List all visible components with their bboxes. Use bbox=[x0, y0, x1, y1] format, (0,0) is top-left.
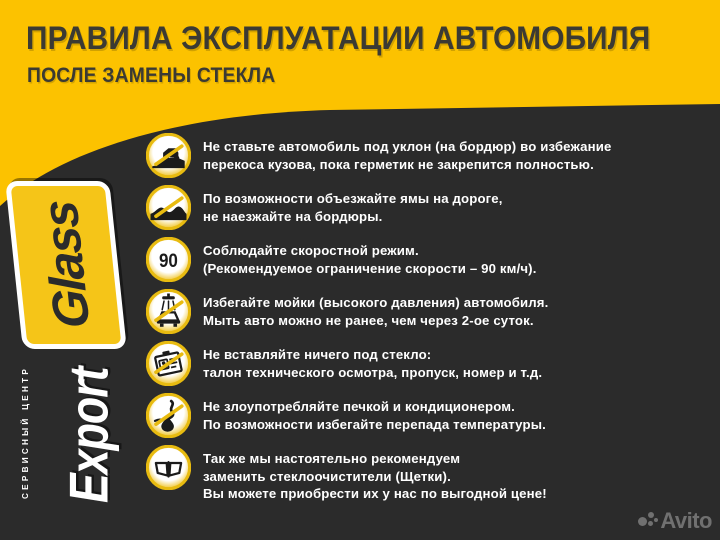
rule-text-line: Не вставляйте ничего под стекло: bbox=[203, 346, 542, 364]
no-parking-on-slope-icon bbox=[146, 133, 191, 178]
poster-canvas: ПРАВИЛА ЭКСПЛУАТАЦИИ АВТОМОБИЛЯ ПОСЛЕ ЗА… bbox=[0, 0, 720, 540]
page-subtitle: ПОСЛЕ ЗАМЕНЫ СТЕКЛА bbox=[27, 64, 275, 88]
rule-text-line: Вы можете приобрести их у нас по выгодно… bbox=[203, 485, 547, 503]
logo-word-export: Export bbox=[62, 368, 116, 503]
logo-service-line: сервисный центр bbox=[21, 366, 30, 499]
avito-logo-icon bbox=[638, 512, 657, 531]
avito-wordmark: Avito bbox=[660, 510, 712, 532]
rule-text-line: Мыть авто можно не ранее, чем через 2-ое… bbox=[203, 312, 548, 330]
rules-list: Не ставьте автомобиль под уклон (на борд… bbox=[146, 133, 706, 510]
rule-item: Не вставляйте ничего под стекло: талон т… bbox=[146, 341, 706, 386]
rule-text-line: талон технического осмотра, пропуск, ном… bbox=[203, 364, 542, 382]
rule-item: 90 Соблюдайте скоростной режим. (Рекомен… bbox=[146, 237, 706, 282]
logo-glass-plate: Glass bbox=[14, 181, 118, 349]
rule-item: Не злоупотребляйте печкой и кондиционеро… bbox=[146, 393, 706, 438]
svg-text:90: 90 bbox=[159, 249, 178, 272]
rule-text: Соблюдайте скоростной режим. (Рекомендуе… bbox=[203, 237, 537, 277]
rule-text-line: заменить стеклоочистители (Щетки). bbox=[203, 468, 547, 486]
rule-text: По возможности объезжайте ямы на дороге,… bbox=[203, 185, 503, 225]
no-heater-ac-icon bbox=[146, 393, 191, 438]
no-car-wash-icon bbox=[146, 289, 191, 334]
speed-limit-90-icon: 90 bbox=[146, 237, 191, 282]
rule-text: Не ставьте автомобиль под уклон (на борд… bbox=[203, 133, 611, 173]
avito-watermark: Avito bbox=[638, 510, 712, 532]
header-band: ПРАВИЛА ЭКСПЛУАТАЦИИ АВТОМОБИЛЯ ПОСЛЕ ЗА… bbox=[0, 0, 720, 132]
no-potholes-icon bbox=[146, 185, 191, 230]
brand-logo: сервисный центр Export Glass bbox=[0, 180, 140, 510]
rule-text-line: По возможности объезжайте ямы на дороге, bbox=[203, 190, 503, 208]
rule-text-line: Соблюдайте скоростной режим. bbox=[203, 242, 537, 260]
rule-text-line: (Рекомендуемое ограничение скорости – 90… bbox=[203, 260, 537, 278]
rule-text-line: Не злоупотребляйте печкой и кондиционеро… bbox=[203, 398, 546, 416]
rule-text-line: не наезжайте на бордюры. bbox=[203, 208, 503, 226]
rule-text: Не злоупотребляйте печкой и кондиционеро… bbox=[203, 393, 546, 433]
no-documents-under-glass-icon bbox=[146, 341, 191, 386]
rule-text-line: По возможности избегайте перепада темпер… bbox=[203, 416, 546, 434]
rule-item: Не ставьте автомобиль под уклон (на борд… bbox=[146, 133, 706, 178]
wiper-blades-icon bbox=[146, 445, 191, 490]
page-title: ПРАВИЛА ЭКСПЛУАТАЦИИ АВТОМОБИЛЯ bbox=[26, 20, 650, 56]
rule-text-line: Так же мы настоятельно рекомендуем bbox=[203, 450, 547, 468]
rule-item: Так же мы настоятельно рекомендуем замен… bbox=[146, 445, 706, 503]
rule-item: Избегайте мойки (высокого давления) авто… bbox=[146, 289, 706, 334]
rule-item: По возможности объезжайте ямы на дороге,… bbox=[146, 185, 706, 230]
rule-text: Так же мы настоятельно рекомендуем замен… bbox=[203, 445, 547, 503]
rule-text-line: Избегайте мойки (высокого давления) авто… bbox=[203, 294, 548, 312]
rule-text: Избегайте мойки (высокого давления) авто… bbox=[203, 289, 548, 329]
rule-text-line: Не ставьте автомобиль под уклон (на борд… bbox=[203, 138, 611, 156]
rule-text: Не вставляйте ничего под стекло: талон т… bbox=[203, 341, 542, 381]
rule-text-line: перекоса кузова, пока герметик не закреп… bbox=[203, 156, 611, 174]
